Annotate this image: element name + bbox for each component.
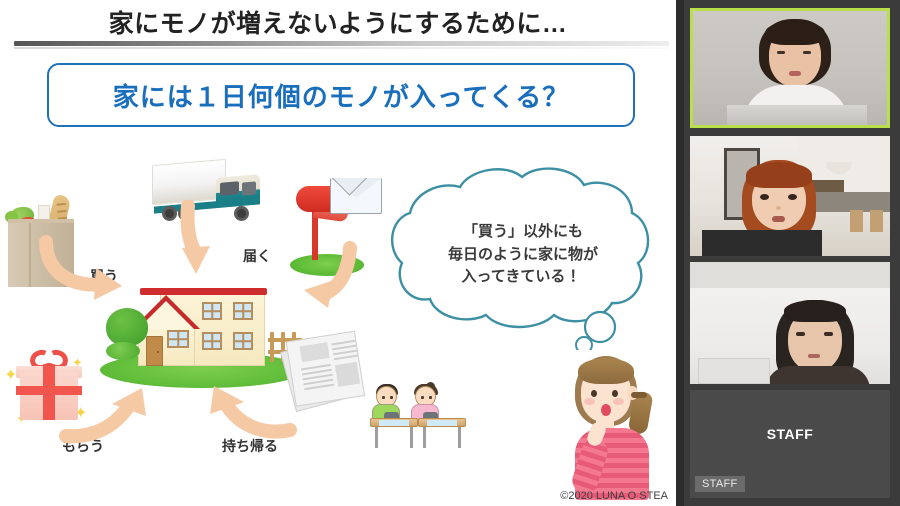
arrow-gift-to-house bbox=[58, 380, 168, 450]
arrow-mail-to-house bbox=[290, 240, 370, 320]
panel-left-edge bbox=[676, 0, 684, 506]
meeting-screen-share-view: 家にモノが増えないようにするために… 家には１日何個のモノが入ってくる？ 買う bbox=[0, 0, 900, 506]
arrow-truck-to-house bbox=[170, 200, 240, 280]
thinking-girl-illustration bbox=[563, 352, 659, 504]
title-divider bbox=[14, 41, 669, 46]
participant-name-badge: STAFF bbox=[695, 476, 745, 492]
students-at-desks-icon bbox=[370, 380, 474, 452]
thought-bubble: 「買う」以外にも 毎日のように家に物が 入ってきている ！ bbox=[388, 165, 658, 350]
video-feed-1 bbox=[693, 11, 887, 125]
video-tile-participant-2[interactable] bbox=[690, 136, 890, 256]
video-tile-participant-4[interactable]: STAFF STAFF bbox=[690, 390, 890, 498]
copyright-text: ©2020 LUNA O STEA bbox=[560, 490, 668, 502]
house-illustration bbox=[100, 270, 305, 390]
video-tile-participant-3[interactable] bbox=[690, 262, 890, 384]
video-tile-participant-1[interactable] bbox=[690, 8, 890, 128]
participant-video-panel: STAFF STAFF bbox=[676, 0, 900, 506]
title-divider-shadow bbox=[14, 47, 669, 49]
video-feed-3 bbox=[690, 262, 890, 384]
flow-diagram: 買う 届く bbox=[0, 140, 676, 506]
participant-name-center: STAFF bbox=[690, 426, 890, 442]
thought-bubble-text: 「買う」以外にも 毎日のように家に物が 入ってきている ！ bbox=[418, 221, 628, 289]
arrow-buy-to-house bbox=[30, 232, 130, 312]
page-title: 家にモノが増えないようにするために… bbox=[0, 4, 676, 40]
video-feed-2 bbox=[690, 136, 890, 256]
arrow-bringhome-to-house bbox=[190, 378, 300, 448]
shared-slide: 家にモノが増えないようにするために… 家には１日何個のモノが入ってくる？ 買う bbox=[0, 0, 676, 506]
question-text: 家には１日何個のモノが入ってくる？ bbox=[113, 77, 569, 114]
question-box: 家には１日何個のモノが入ってくる？ bbox=[47, 63, 635, 127]
label-deliver: 届く bbox=[243, 246, 271, 266]
